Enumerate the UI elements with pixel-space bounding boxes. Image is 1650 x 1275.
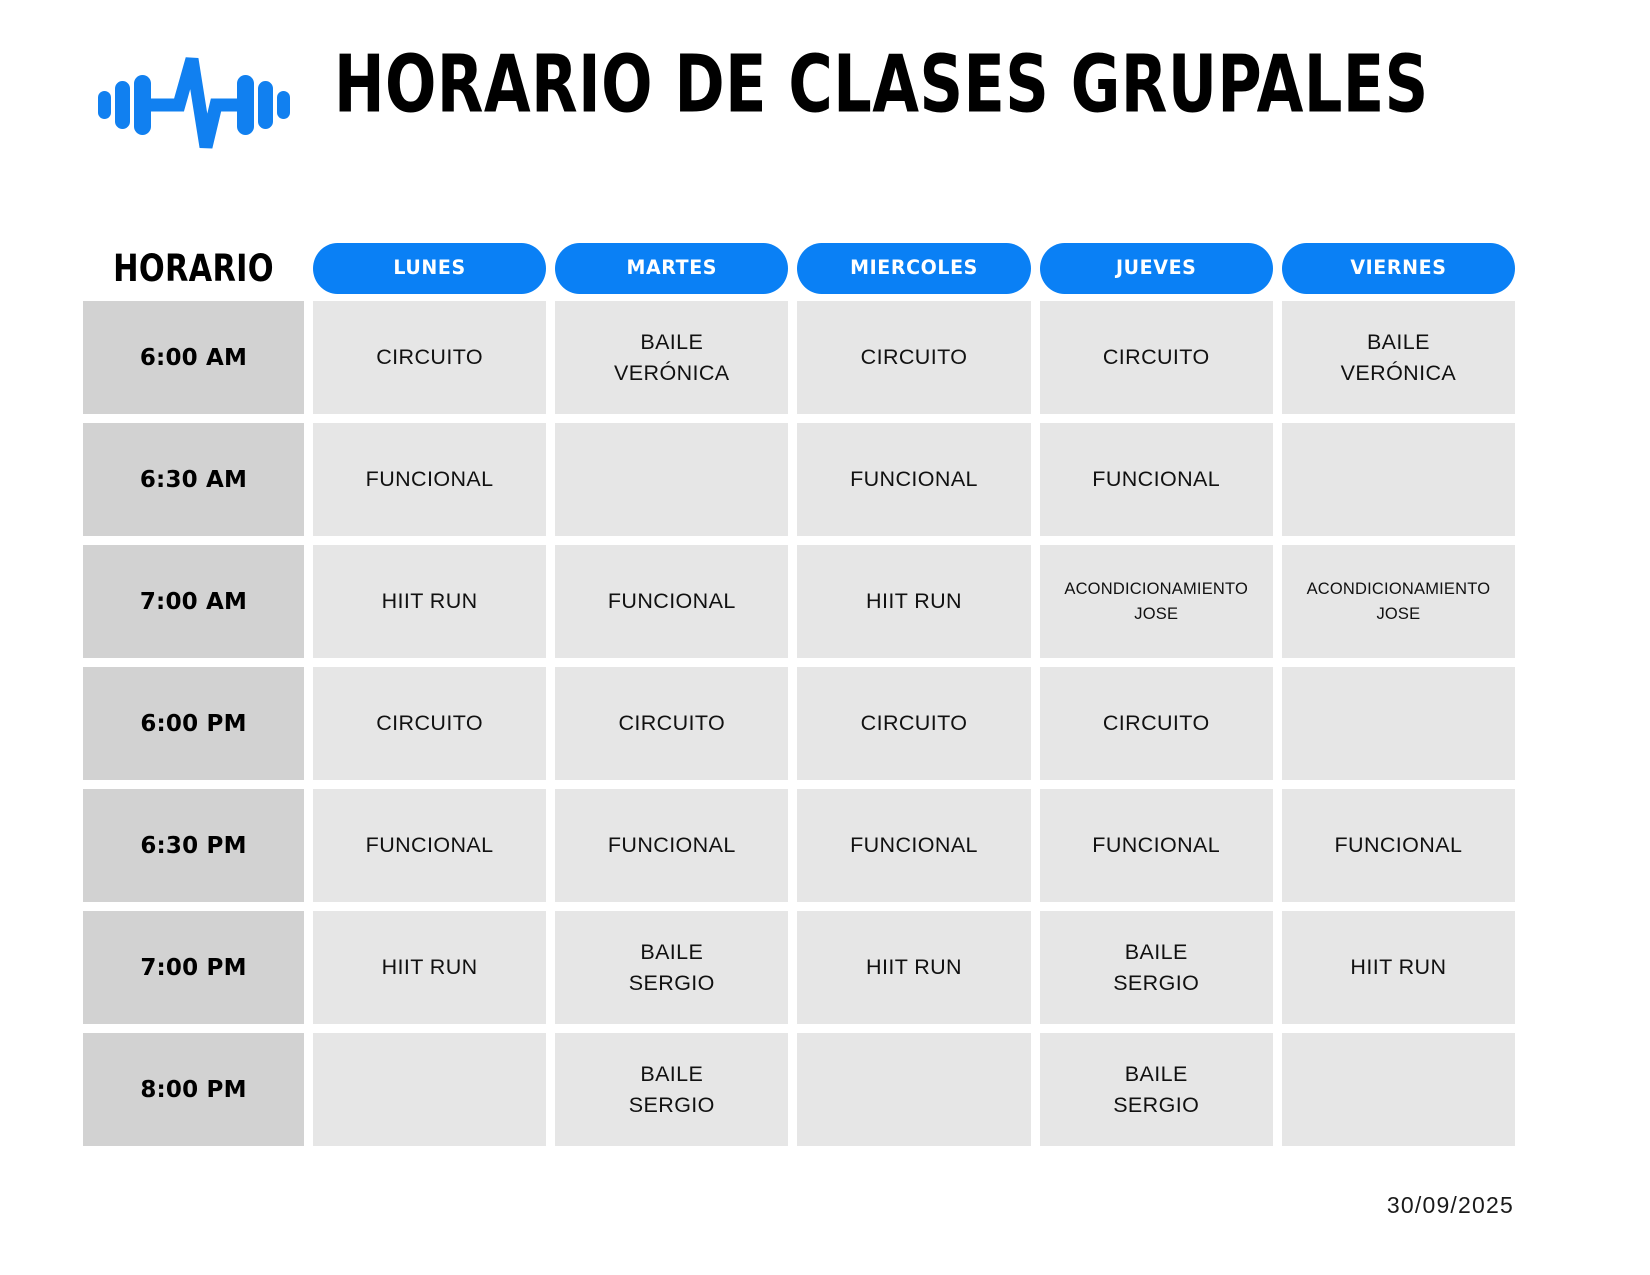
class-name: FUNCIONAL <box>608 586 736 617</box>
class-name: CIRCUITO <box>861 708 968 739</box>
class-cell[interactable] <box>797 1033 1030 1146</box>
class-name: CIRCUITO <box>1103 708 1210 739</box>
dumbbell-pulse-icon <box>96 53 292 157</box>
table-row: 6:00 PMCIRCUITOCIRCUITOCIRCUITOCIRCUITO <box>83 667 1515 780</box>
class-cell[interactable]: BAILEVERÓNICA <box>1282 301 1515 414</box>
class-cell[interactable]: FUNCIONAL <box>797 423 1030 536</box>
table-row: 6:30 AMFUNCIONALFUNCIONALFUNCIONAL <box>83 423 1515 536</box>
class-cell[interactable]: BAILESERGIO <box>555 1033 788 1146</box>
class-instructor: SERGIO <box>629 968 715 999</box>
table-row: 6:00 AMCIRCUITOBAILEVERÓNICACIRCUITOCIRC… <box>83 301 1515 414</box>
class-name: FUNCIONAL <box>1092 830 1220 861</box>
class-name: BAILE <box>640 1059 703 1090</box>
time-slot-cell: 7:00 AM <box>83 545 304 658</box>
table-row: 7:00 PMHIIT RUNBAILESERGIOHIIT RUNBAILES… <box>83 911 1515 1024</box>
class-cell[interactable] <box>1282 667 1515 780</box>
class-name: CIRCUITO <box>376 342 483 373</box>
time-slot-cell: 7:00 PM <box>83 911 304 1024</box>
class-name: FUNCIONAL <box>366 830 494 861</box>
time-slot-cell: 6:30 AM <box>83 423 304 536</box>
class-name: BAILE <box>1367 327 1430 358</box>
table-row: 6:30 PMFUNCIONALFUNCIONALFUNCIONALFUNCIO… <box>83 789 1515 902</box>
class-name: CIRCUITO <box>618 708 725 739</box>
table-row: 8:00 PMBAILESERGIOBAILESERGIO <box>83 1033 1515 1146</box>
class-name: HIIT RUN <box>382 586 478 617</box>
class-cell[interactable] <box>555 423 788 536</box>
class-instructor: SERGIO <box>629 1090 715 1121</box>
page-title: HORARIO DE CLASES GRUPALES <box>334 46 1429 125</box>
table-row: 7:00 AMHIIT RUNFUNCIONALHIIT RUNACONDICI… <box>83 545 1515 658</box>
day-pill-label: JUEVES <box>1040 243 1273 294</box>
class-cell[interactable]: FUNCIONAL <box>1040 789 1273 902</box>
class-cell[interactable]: BAILESERGIO <box>555 911 788 1024</box>
class-name: HIIT RUN <box>866 586 962 617</box>
class-cell[interactable]: ACONDICIONAMIENTOJOSE <box>1040 545 1273 658</box>
class-name: HIIT RUN <box>382 952 478 983</box>
class-cell[interactable]: FUNCIONAL <box>555 789 788 902</box>
class-cell[interactable]: HIIT RUN <box>313 911 546 1024</box>
class-name: ACONDICIONAMIENTO <box>1307 577 1491 602</box>
class-cell[interactable]: CIRCUITO <box>1040 301 1273 414</box>
class-name: FUNCIONAL <box>1334 830 1462 861</box>
class-cell[interactable]: CIRCUITO <box>797 301 1030 414</box>
class-cell[interactable]: HIIT RUN <box>797 545 1030 658</box>
class-name: CIRCUITO <box>861 342 968 373</box>
class-cell[interactable]: FUNCIONAL <box>555 545 788 658</box>
schedule-poster: HORARIO DE CLASES GRUPALES HORARIO LUNES… <box>0 0 1650 1275</box>
table-body: 6:00 AMCIRCUITOBAILEVERÓNICACIRCUITOCIRC… <box>83 301 1515 1146</box>
class-instructor: JOSE <box>1376 602 1420 627</box>
time-slot-cell: 6:30 PM <box>83 789 304 902</box>
class-cell[interactable]: CIRCUITO <box>313 301 546 414</box>
class-cell[interactable]: FUNCIONAL <box>313 423 546 536</box>
poster-header: HORARIO DE CLASES GRUPALES <box>0 0 1650 118</box>
day-header-viernes[interactable]: VIERNES <box>1282 244 1515 293</box>
class-name: HIIT RUN <box>1350 952 1446 983</box>
table-header-row: HORARIO LUNES MARTES MIERCOLES JUEVES VI… <box>83 242 1515 294</box>
class-instructor: VERÓNICA <box>1341 358 1457 389</box>
class-cell[interactable]: FUNCIONAL <box>313 789 546 902</box>
time-slot-cell: 6:00 AM <box>83 301 304 414</box>
poster-date: 30/09/2025 <box>1387 1192 1514 1219</box>
class-cell[interactable] <box>313 1033 546 1146</box>
class-cell[interactable]: BAILEVERÓNICA <box>555 301 788 414</box>
class-name: BAILE <box>1125 1059 1188 1090</box>
day-header-miercoles[interactable]: MIERCOLES <box>797 244 1030 293</box>
class-name: CIRCUITO <box>376 708 483 739</box>
class-instructor: SERGIO <box>1113 1090 1199 1121</box>
class-name: ACONDICIONAMIENTO <box>1064 577 1248 602</box>
class-cell[interactable]: FUNCIONAL <box>797 789 1030 902</box>
class-cell[interactable] <box>1282 1033 1515 1146</box>
class-cell[interactable]: BAILESERGIO <box>1040 911 1273 1024</box>
class-cell[interactable]: CIRCUITO <box>313 667 546 780</box>
class-cell[interactable]: BAILESERGIO <box>1040 1033 1273 1146</box>
schedule-table: HORARIO LUNES MARTES MIERCOLES JUEVES VI… <box>83 242 1515 1155</box>
class-name: CIRCUITO <box>1103 342 1210 373</box>
class-cell[interactable]: HIIT RUN <box>797 911 1030 1024</box>
class-cell[interactable]: CIRCUITO <box>1040 667 1273 780</box>
class-name: FUNCIONAL <box>366 464 494 495</box>
class-cell[interactable]: ACONDICIONAMIENTOJOSE <box>1282 545 1515 658</box>
time-slot-cell: 6:00 PM <box>83 667 304 780</box>
day-header-jueves[interactable]: JUEVES <box>1040 244 1273 293</box>
class-name: BAILE <box>640 937 703 968</box>
class-name: HIIT RUN <box>866 952 962 983</box>
class-name: FUNCIONAL <box>850 830 978 861</box>
class-name: FUNCIONAL <box>608 830 736 861</box>
class-cell[interactable]: CIRCUITO <box>797 667 1030 780</box>
day-pill-label: LUNES <box>313 243 546 294</box>
day-header-lunes[interactable]: LUNES <box>313 244 546 293</box>
class-name: FUNCIONAL <box>1092 464 1220 495</box>
day-header-martes[interactable]: MARTES <box>555 244 788 293</box>
class-cell[interactable]: HIIT RUN <box>1282 911 1515 1024</box>
class-instructor: VERÓNICA <box>614 358 730 389</box>
class-cell[interactable]: HIIT RUN <box>313 545 546 658</box>
class-name: BAILE <box>1125 937 1188 968</box>
class-cell[interactable]: FUNCIONAL <box>1282 789 1515 902</box>
class-name: FUNCIONAL <box>850 464 978 495</box>
day-pill-label: MIERCOLES <box>797 243 1030 294</box>
class-cell[interactable]: FUNCIONAL <box>1040 423 1273 536</box>
day-pill-label: MARTES <box>555 243 788 294</box>
class-instructor: SERGIO <box>1113 968 1199 999</box>
class-cell[interactable]: CIRCUITO <box>555 667 788 780</box>
time-slot-cell: 8:00 PM <box>83 1033 304 1146</box>
class-cell[interactable] <box>1282 423 1515 536</box>
class-name: BAILE <box>640 327 703 358</box>
class-instructor: JOSE <box>1134 602 1178 627</box>
day-pill-label: VIERNES <box>1282 243 1515 294</box>
time-column-header: HORARIO <box>89 237 299 298</box>
